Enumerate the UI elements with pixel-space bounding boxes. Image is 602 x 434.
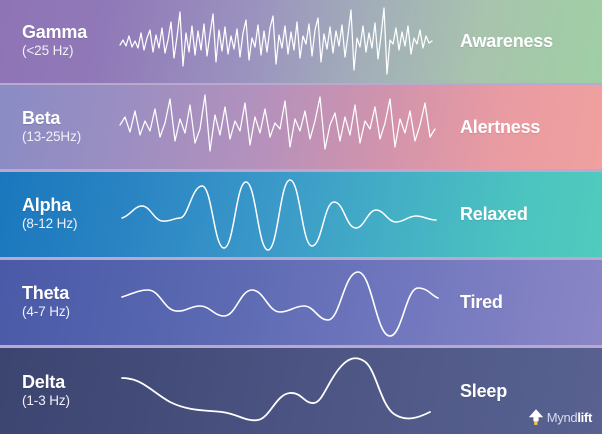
band-name-alpha: Alpha <box>22 196 118 215</box>
band-state-gamma: Awareness <box>442 31 602 52</box>
band-row-beta: Beta (13-25Hz) Alertness <box>0 85 602 169</box>
band-state-theta: Tired <box>442 292 602 313</box>
alpha-waveform-icon <box>118 172 442 257</box>
band-row-alpha: Alpha (8-12 Hz) Relaxed <box>0 172 602 257</box>
band-row-theta: Theta (4-7 Hz) Tired <box>0 260 602 345</box>
logo-text-lift: lift <box>577 410 592 425</box>
gamma-waveform-icon <box>118 0 442 83</box>
band-row-delta: Delta (1-3 Hz) Sleep <box>0 348 602 434</box>
band-state-beta: Alertness <box>442 117 602 138</box>
theta-waveform-icon <box>118 260 442 345</box>
beta-waveform-icon <box>118 85 442 169</box>
band-row-gamma: Gamma (<25 Hz) Awareness <box>0 0 602 83</box>
band-state-alpha: Relaxed <box>442 204 602 225</box>
band-state-delta: Sleep <box>442 381 602 402</box>
band-name-theta: Theta <box>22 284 118 303</box>
band-label-theta: Theta (4-7 Hz) <box>0 284 118 321</box>
band-frequency-beta: (13-25Hz) <box>22 129 118 146</box>
logo-text-mynd: Mynd <box>547 410 578 425</box>
band-frequency-delta: (1-3 Hz) <box>22 393 118 410</box>
band-label-alpha: Alpha (8-12 Hz) <box>0 196 118 233</box>
band-frequency-alpha: (8-12 Hz) <box>22 216 118 233</box>
band-frequency-theta: (4-7 Hz) <box>22 304 118 321</box>
logo-text: Myndlift <box>547 411 592 424</box>
band-label-beta: Beta (13-25Hz) <box>0 109 118 146</box>
band-name-delta: Delta <box>22 373 118 392</box>
band-label-delta: Delta (1-3 Hz) <box>0 373 118 410</box>
delta-waveform-icon <box>118 348 442 434</box>
band-name-beta: Beta <box>22 109 118 128</box>
band-frequency-gamma: (<25 Hz) <box>22 43 118 60</box>
band-label-gamma: Gamma (<25 Hz) <box>0 23 118 60</box>
band-name-gamma: Gamma <box>22 23 118 42</box>
brainwave-infographic: Gamma (<25 Hz) Awareness Beta (13-25Hz) … <box>0 0 602 434</box>
myndlift-logo[interactable]: Myndlift <box>528 408 592 426</box>
up-arrow-icon <box>528 408 544 426</box>
